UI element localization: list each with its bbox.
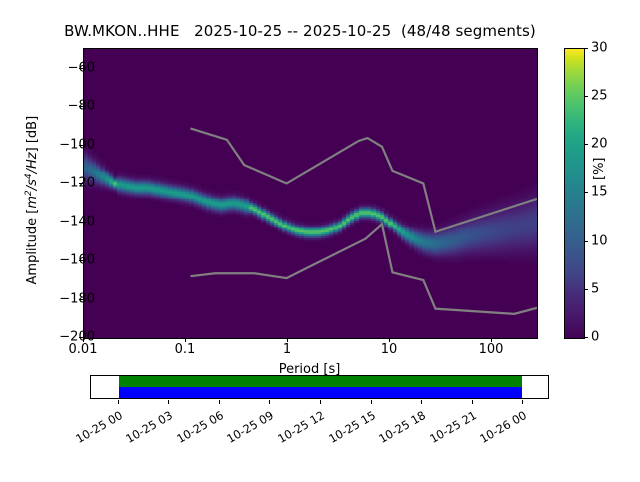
colorbar-tick-label: 0 bbox=[591, 330, 599, 345]
y-tick-label: −120 bbox=[35, 176, 95, 191]
x-tick-label: 1 bbox=[283, 342, 291, 357]
colorbar-tick-label: 25 bbox=[591, 89, 608, 104]
timeline-data-bar bbox=[119, 376, 523, 387]
y-tick-label: −80 bbox=[35, 99, 95, 114]
x-tick-label: 10 bbox=[381, 342, 398, 357]
ppsd-main-axes bbox=[83, 48, 538, 339]
nlnm-curve bbox=[190, 224, 537, 314]
y-tick-label: −180 bbox=[35, 292, 95, 307]
y-tick-label: −60 bbox=[35, 61, 95, 76]
colorbar-label: [%] bbox=[592, 158, 607, 181]
colorbar-tick-label: 30 bbox=[591, 41, 608, 56]
x-tick-label: 0.01 bbox=[69, 342, 98, 357]
y-axis-label: Amplitude [m2/s4/Hz] [dB] bbox=[24, 50, 40, 350]
colorbar bbox=[564, 48, 585, 339]
nhnm-curve bbox=[190, 128, 537, 231]
x-tick-label: 100 bbox=[479, 342, 504, 357]
y-tick-label: −100 bbox=[35, 138, 95, 153]
y-tick-label: −160 bbox=[35, 253, 95, 268]
timeline-axes bbox=[90, 375, 549, 399]
colorbar-tick-label: 20 bbox=[591, 137, 608, 152]
noise-model-layer bbox=[84, 49, 537, 338]
x-tick-label: 0.1 bbox=[175, 342, 196, 357]
plot-title: BW.MKON..HHE 2025-10-25 -- 2025-10-25 (4… bbox=[0, 22, 600, 40]
colorbar-tick-label: 5 bbox=[591, 282, 599, 297]
colorbar-tick-label: 15 bbox=[591, 185, 608, 200]
colorbar-tick-label: 10 bbox=[591, 234, 608, 249]
y-tick-label: −140 bbox=[35, 215, 95, 230]
timeline-coverage-bar bbox=[119, 387, 523, 398]
